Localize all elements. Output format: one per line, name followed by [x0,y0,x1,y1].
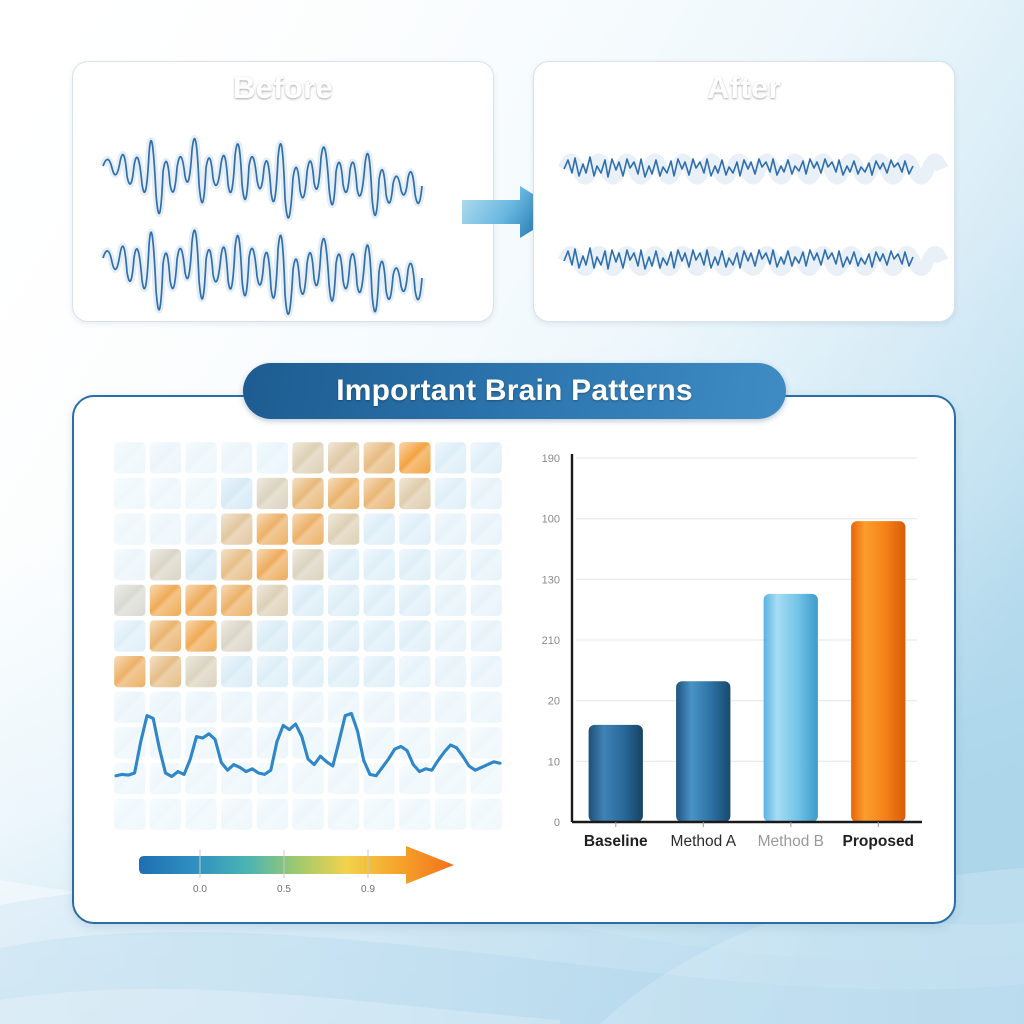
heatmap-cell-sheen [364,620,395,651]
heatmap-cell-sheen [435,442,466,473]
bar-method-a[interactable] [676,681,730,822]
before-panel-title: Before [233,70,333,106]
heatmap-cell-sheen [292,478,323,509]
heatmap-cell-sheen [471,692,502,723]
heatmap-cell-sheen [221,513,252,544]
heatmap-cell-sheen [364,656,395,687]
bar-proposed[interactable] [851,521,905,822]
before-panel: Before [72,61,494,322]
heatmap-cell-sheen [328,513,359,544]
heatmap-cell-sheen [435,549,466,580]
y-axis-tick-label: 190 [542,453,560,465]
heatmap-cell-sheen [257,620,288,651]
heatmap-cell-sheen [257,727,288,758]
heatmap-cell-sheen [185,478,216,509]
heatmap-cell-sheen [435,585,466,616]
heatmap-cell-sheen [471,656,502,687]
heatmap-cell-sheen [185,513,216,544]
heatmap-cell-sheen [150,620,181,651]
heatmap-cell-sheen [471,442,502,473]
heatmap-cell-sheen [471,585,502,616]
heatmap-cell-sheen [292,549,323,580]
y-axis-tick-label: 210 [542,635,560,647]
heatmap-cell-sheen [364,478,395,509]
heatmap-cell-sheen [328,442,359,473]
heatmap-cell-sheen [471,549,502,580]
y-axis-tick-label: 20 [548,696,560,708]
gradient-arrow-icon [139,846,454,884]
x-axis-category-label: Method A [671,833,737,850]
heatmap-cell-sheen [328,763,359,794]
heatmap-cell-sheen [257,513,288,544]
x-axis-category-label: Proposed [843,833,914,850]
heatmap-cell-sheen [328,620,359,651]
y-axis-tick-label: 100 [542,514,560,526]
heatmap-cell-sheen [114,692,145,723]
heatmap-cell-sheen [185,799,216,830]
heatmap-cell-sheen [471,799,502,830]
heatmap-cell-sheen [221,692,252,723]
heatmap-cell-sheen [328,656,359,687]
heatmap-cell-sheen [328,727,359,758]
bar-method-b[interactable] [764,594,818,822]
after-panel-header: After [534,62,954,114]
heatmap-cell-sheen [399,513,430,544]
before-eeg-traces [73,114,493,321]
heatmap-cell-sheen [221,585,252,616]
heatmap-cell-sheen [150,656,181,687]
bar-chart: 01020210130100190 BaselineMethod AMethod… [520,440,932,860]
heatmap-cell-sheen [114,549,145,580]
heatmap-cell-sheen [221,549,252,580]
before-panel-body [73,114,493,321]
y-axis-tick-label: 10 [548,756,560,768]
heatmap-grid [112,440,504,832]
after-panel: After [533,61,955,322]
heatmap-cell-sheen [114,513,145,544]
heatmap-cell-sheen [221,727,252,758]
heatmap-cell-sheen [399,727,430,758]
main-panel-title: Important Brain Patterns [336,374,693,408]
heatmap-cell-sheen [292,513,323,544]
heatmap-cell-sheen [471,763,502,794]
heatmap-cell-sheen [221,478,252,509]
heatmap-cell-sheen [328,585,359,616]
heatmap-cell-sheen [399,620,430,651]
heatmap-cell-sheen [257,692,288,723]
heatmap-cell-sheen [328,799,359,830]
heatmap-cell-sheen [185,585,216,616]
heatmap-cell-sheen [221,442,252,473]
heatmap-cell-sheen [399,478,430,509]
heatmap-cell-sheen [150,585,181,616]
heatmap-cell-sheen [399,585,430,616]
after-eeg-traces [534,114,954,321]
heatmap-cell-sheen [364,549,395,580]
heatmap-cell-sheen [221,799,252,830]
heatmap-cell-sheen [114,656,145,687]
heatmap-cell-sheen [399,656,430,687]
heatmap-cell-sheen [471,620,502,651]
heatmap-colorbar: 0.00.50.9 [138,844,458,896]
heatmap-cell-sheen [435,656,466,687]
heatmap-cell-sheen [292,692,323,723]
heatmap-cell-sheen [435,513,466,544]
heatmap-cell-sheen [364,692,395,723]
heatmap-cell-sheen [328,549,359,580]
heatmap-cell-sheen [292,763,323,794]
heatmap-figure [112,440,504,832]
after-panel-title: After [707,70,781,106]
after-eeg-trace-2 [564,248,942,270]
x-axis-category-label: Baseline [584,833,648,850]
after-panel-body [534,114,954,321]
heatmap-cell-sheen [292,442,323,473]
bar-chart-figure: 01020210130100190 BaselineMethod AMethod… [520,440,932,860]
heatmap-cell-sheen [364,442,395,473]
heatmap-cell-sheen [399,799,430,830]
heatmap-cell-sheen [185,763,216,794]
colorbar-tick-label: 0.9 [361,884,375,895]
heatmap-cell-sheen [435,692,466,723]
heatmap-cell-sheen [292,799,323,830]
heatmap-cell-sheen [221,656,252,687]
colorbar-tick-label: 0.0 [193,884,207,895]
heatmap-cell-sheen [114,478,145,509]
heatmap-cell-sheen [292,585,323,616]
heatmap-cell-sheen [364,799,395,830]
bar-baseline[interactable] [589,725,643,822]
heatmap-cell-sheen [435,799,466,830]
heatmap-cell-sheen [114,442,145,473]
heatmap-cell-sheen [150,442,181,473]
heatmap-cell-sheen [185,620,216,651]
heatmap-cell-sheen [185,656,216,687]
before-eeg-trace-1 [103,139,422,218]
heatmap-cell-sheen [471,513,502,544]
x-axis-category-label: Method B [758,833,824,850]
before-panel-header: Before [73,62,493,114]
heatmap-cell-sheen [399,692,430,723]
heatmap-cell-sheen [185,442,216,473]
main-panel-title-banner: Important Brain Patterns [243,363,786,419]
after-eeg-trace-1 [564,157,942,178]
heatmap-cell-sheen [364,513,395,544]
heatmap-cell-sheen [150,513,181,544]
heatmap-cell-sheen [399,442,430,473]
before-eeg-trace-2 [103,230,422,314]
heatmap-cell-sheen [435,620,466,651]
heatmap-cell-sheen [150,549,181,580]
heatmap-cell-sheen [150,799,181,830]
heatmap-cell-sheen [257,656,288,687]
heatmap-cell-sheen [471,727,502,758]
heatmap-cell-sheen [435,763,466,794]
heatmap-cell-sheen [364,585,395,616]
heatmap-cell-sheen [471,478,502,509]
heatmap-cell-sheen [328,478,359,509]
heatmap-cell-sheen [292,656,323,687]
y-axis-tick-label: 0 [554,817,560,829]
heatmap-cell-sheen [399,549,430,580]
heatmap-cell-sheen [185,549,216,580]
colorbar-tick-label: 0.5 [277,884,291,895]
heatmap-cell-sheen [221,620,252,651]
heatmap-cell-sheen [257,585,288,616]
heatmap-cell-sheen [257,549,288,580]
heatmap-cell-sheen [257,799,288,830]
heatmap-cell-sheen [435,478,466,509]
y-axis-tick-label: 130 [542,574,560,586]
heatmap-cell-sheen [292,620,323,651]
heatmap-cell-sheen [114,585,145,616]
heatmap-cell-sheen [257,478,288,509]
heatmap-cell-sheen [185,692,216,723]
heatmap-cell-sheen [114,620,145,651]
heatmap-cell-sheen [114,799,145,830]
heatmap-cell-sheen [257,442,288,473]
heatmap-cell-sheen [150,478,181,509]
heatmap-cell-sheen [114,763,145,794]
